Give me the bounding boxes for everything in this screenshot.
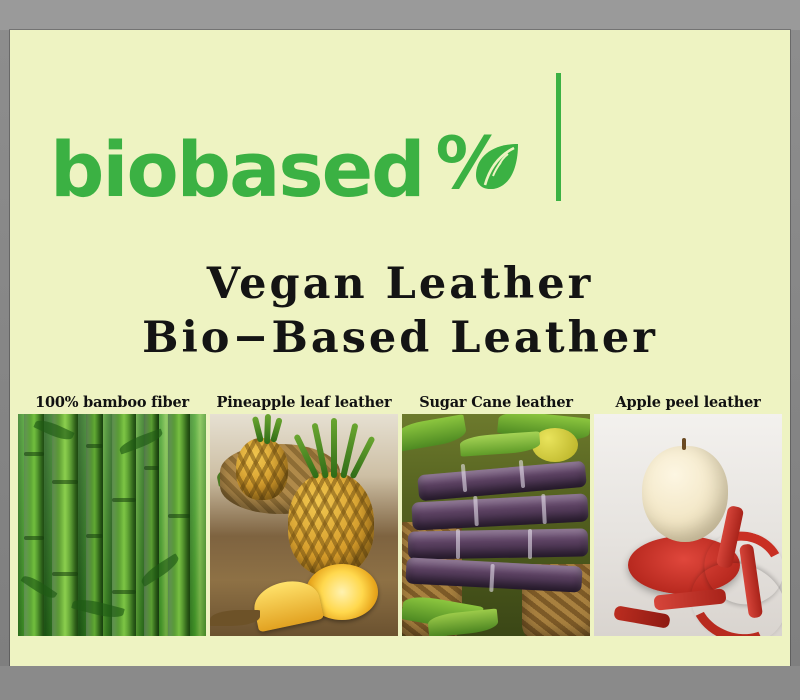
leaf-icon bbox=[474, 141, 520, 196]
material-card-bamboo: 100% bamboo fiber bbox=[18, 392, 206, 636]
material-card-sugarcane: Sugar Cane leather bbox=[402, 392, 590, 636]
card-caption: Apple peel leather bbox=[594, 392, 782, 414]
card-caption: Pineapple leaf leather bbox=[210, 392, 398, 414]
sugarcane-photo bbox=[402, 414, 590, 636]
apple-peel-photo bbox=[594, 414, 782, 636]
title-line-2: Bio−Based Leather bbox=[10, 312, 790, 364]
slide-frame: biobased % Vegan Leather Bio−Based Leath… bbox=[0, 0, 800, 700]
logo-wordmark: biobased bbox=[50, 132, 424, 208]
title-line-1: Vegan Leather bbox=[10, 258, 790, 310]
material-cards-row: 100% bamboo fiber bbox=[18, 392, 786, 636]
vertical-divider-icon bbox=[556, 73, 561, 201]
pineapple-photo bbox=[210, 414, 398, 636]
percent-leaf-mark: % bbox=[436, 131, 522, 209]
bamboo-photo bbox=[18, 414, 206, 636]
material-card-apple: Apple peel leather bbox=[594, 392, 782, 636]
material-card-pineapple: Pineapple leaf leather bbox=[210, 392, 398, 636]
frame-top-bar bbox=[0, 0, 800, 30]
page-title: Vegan Leather Bio−Based Leather bbox=[10, 258, 790, 364]
card-caption: 100% bamboo fiber bbox=[18, 392, 206, 414]
card-caption: Sugar Cane leather bbox=[402, 392, 590, 414]
slide-surface: biobased % Vegan Leather Bio−Based Leath… bbox=[10, 30, 790, 666]
brand-logo: biobased % bbox=[50, 115, 561, 225]
frame-bottom-bar bbox=[0, 666, 800, 700]
